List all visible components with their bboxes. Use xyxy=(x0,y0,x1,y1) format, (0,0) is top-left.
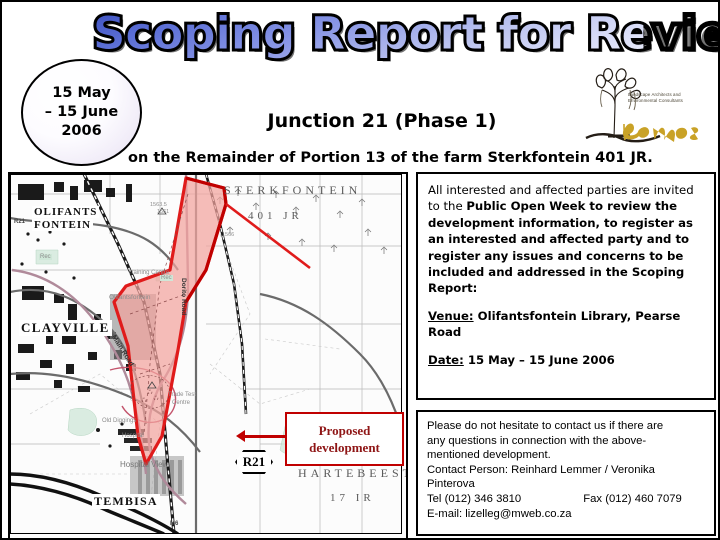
contact-person-line-2: Pinterova xyxy=(427,477,705,492)
contact-tel-fax-line: Tel (012) 346 3810Fax (012) 460 7079 xyxy=(427,492,705,507)
invitation-paragraph: All interested and affected parties are … xyxy=(428,182,704,297)
project-subtitle: on the Remainder of Portion 13 of the fa… xyxy=(128,150,714,166)
contact-person-line-1: Contact Person: Reinhard Lemmer / Veroni… xyxy=(427,463,705,478)
public-open-week-panel: All interested and affected parties are … xyxy=(416,172,716,400)
bokamoso-logo: Landscape Architects and Environmental C… xyxy=(568,66,708,150)
contact-line-2: any questions in connection with the abo… xyxy=(427,434,705,449)
contact-panel: Please do not hesitate to contact us if … xyxy=(416,410,716,536)
callout-line-1: Proposed xyxy=(309,422,380,439)
proposed-development-callout: Proposed development xyxy=(285,412,404,466)
route-shield-label: R21 xyxy=(235,450,273,474)
spacer-2 xyxy=(428,341,704,352)
date-oval-badge: 15 May – 15 June 2006 xyxy=(21,59,142,166)
contact-line-3: mentioned development. xyxy=(427,448,705,463)
logo-tree-icon xyxy=(568,66,708,150)
map-graphic xyxy=(10,174,402,534)
contact-fax: Fax (012) 460 7079 xyxy=(583,493,682,505)
date-oval-line-1: 15 May xyxy=(52,84,110,103)
date-oval-line-2: – 15 June xyxy=(45,103,118,122)
contact-email[interactable]: E-mail: lizelleg@mweb.co.za xyxy=(427,507,705,522)
logo-tagline: Landscape Architects and Environmental C… xyxy=(628,92,706,103)
poster-page: Scoping Report for Review Scoping Report… xyxy=(0,0,720,540)
contact-tel: Tel (012) 346 3810 xyxy=(427,493,521,505)
contact-line-1: Please do not hesitate to contact us if … xyxy=(427,419,705,434)
callout-line-2: development xyxy=(309,439,380,456)
callout-arrow-icon xyxy=(236,430,245,442)
callout-leader-line xyxy=(242,435,286,438)
location-map[interactable]: OLIFANTS FONTEIN CLAYVILLE TEMBISA STERK… xyxy=(8,172,408,540)
date-oval-line-3: 2006 xyxy=(61,122,101,141)
date-label: Date: xyxy=(428,353,464,367)
date-value: 15 May – 15 June 2006 xyxy=(464,353,615,367)
route-shield-r21: R21 xyxy=(235,450,273,474)
venue-line: Venue: Olifantsfontein Library, Pearse R… xyxy=(428,308,704,341)
project-title: Junction 21 (Phase 1) xyxy=(202,110,562,132)
wordart-title-stroke: Scoping Report for Review xyxy=(93,6,644,62)
venue-label: Venue: xyxy=(428,309,474,323)
invitation-bold: Public Open Week to review the developme… xyxy=(428,199,693,295)
date-line: Date: 15 May – 15 June 2006 xyxy=(428,352,704,368)
spacer-1 xyxy=(428,297,704,308)
wordart-title: Scoping Report for Review Scoping Report… xyxy=(98,6,638,64)
